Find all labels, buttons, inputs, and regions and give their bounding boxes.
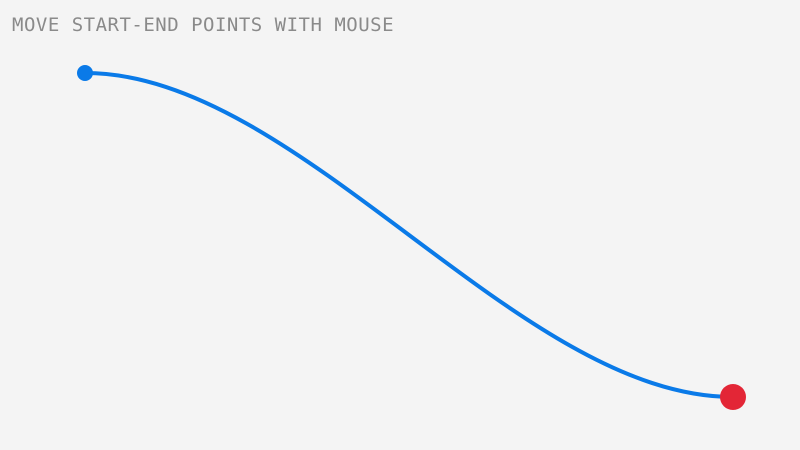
canvas-background: [0, 0, 800, 450]
curve-canvas[interactable]: [0, 0, 800, 450]
end-point-handle[interactable]: [720, 384, 746, 410]
start-point-handle[interactable]: [77, 65, 93, 81]
canvas-stage: MOVE START-END POINTS WITH MOUSE: [0, 0, 800, 450]
page-title: MOVE START-END POINTS WITH MOUSE: [12, 14, 394, 36]
